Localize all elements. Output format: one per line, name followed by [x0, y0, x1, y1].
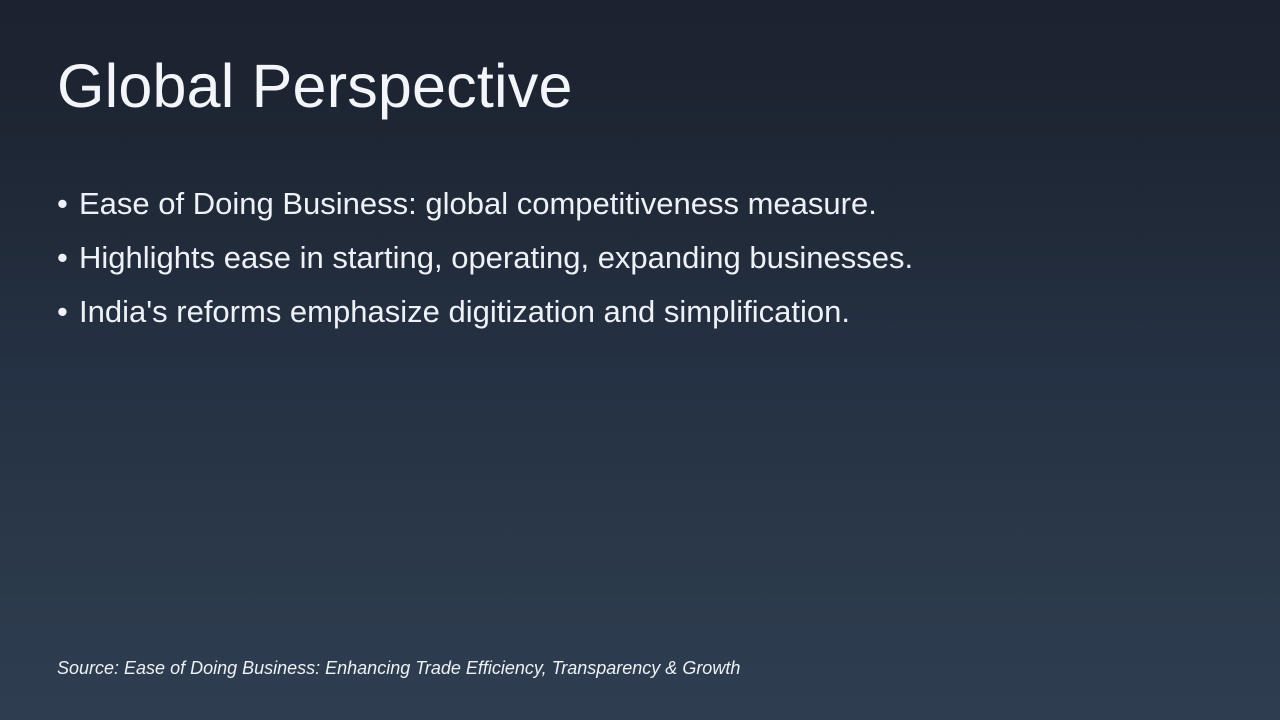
list-item-label: Ease of Doing Business: global competiti…: [79, 188, 1157, 219]
bullet-point-icon: •: [57, 296, 79, 327]
list-item-label: Highlights ease in starting, operating, …: [79, 242, 1157, 273]
presentation-slide: Global Perspective • Ease of Doing Busin…: [0, 0, 1280, 720]
list-item: • India's reforms emphasize digitization…: [57, 296, 1157, 350]
bullet-point-icon: •: [57, 242, 79, 273]
bullet-list: • Ease of Doing Business: global competi…: [57, 188, 1157, 350]
bullet-point-icon: •: [57, 188, 79, 219]
list-item: • Ease of Doing Business: global competi…: [57, 188, 1157, 242]
list-item: • Highlights ease in starting, operating…: [57, 242, 1157, 296]
source-attribution: Source: Ease of Doing Business: Enhancin…: [57, 658, 740, 680]
list-item-label: India's reforms emphasize digitization a…: [79, 296, 1157, 327]
page-title: Global Perspective: [57, 54, 573, 119]
